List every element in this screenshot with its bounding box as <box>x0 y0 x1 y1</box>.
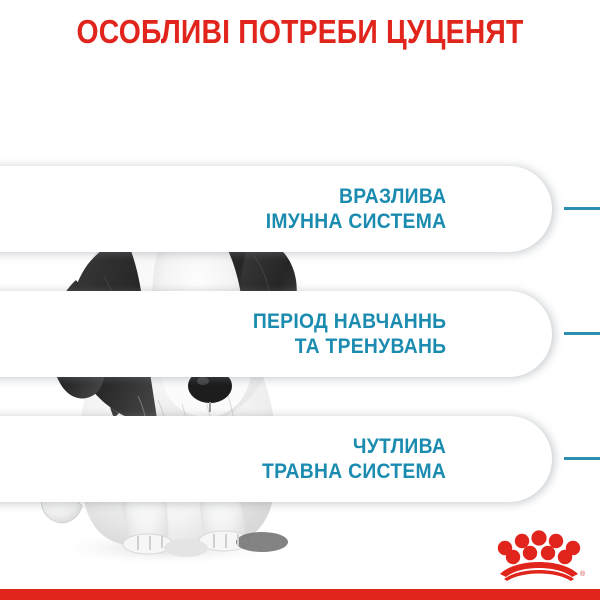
connector-line-immune <box>564 207 600 210</box>
connector-line-digestion <box>564 457 600 460</box>
feature-line-2: ТА ТРЕНУВАНЬ <box>252 334 446 359</box>
feature-card-digestion: ЧУТЛИВА ТРАВНА СИСТЕМА <box>0 416 552 502</box>
promo-banner: ОСОБЛИВІ ПОТРЕБИ ЦУЦЕНЯТ <box>0 0 600 600</box>
feature-text-learning: ПЕРІОД НАВЧАННЬ ТА ТРЕНУВАНЬ <box>252 309 446 359</box>
feature-card-immune: ВРАЗЛИВА ІМУННА СИСТЕМА <box>0 166 552 252</box>
page-title: ОСОБЛИВІ ПОТРЕБИ ЦУЦЕНЯТ <box>42 13 558 51</box>
feature-line-1: ВРАЗЛИВА <box>265 184 446 209</box>
feature-text-immune: ВРАЗЛИВА ІМУННА СИСТЕМА <box>265 184 446 234</box>
footer-red-bar <box>0 589 600 600</box>
feature-line-1: ЧУТЛИВА <box>262 434 446 459</box>
feature-card-learning: ПЕРІОД НАВЧАННЬ ТА ТРЕНУВАНЬ <box>0 291 552 377</box>
connector-line-learning <box>564 332 600 335</box>
feature-line-2: ТРАВНА СИСТЕМА <box>262 459 446 484</box>
feature-line-1: ПЕРІОД НАВЧАННЬ <box>252 309 446 334</box>
feature-line-2: ІМУННА СИСТЕМА <box>265 209 446 234</box>
feature-text-digestion: ЧУТЛИВА ТРАВНА СИСТЕМА <box>262 434 446 484</box>
royal-canin-crown-logo: ® <box>492 522 586 582</box>
trademark-symbol: ® <box>580 570 586 578</box>
